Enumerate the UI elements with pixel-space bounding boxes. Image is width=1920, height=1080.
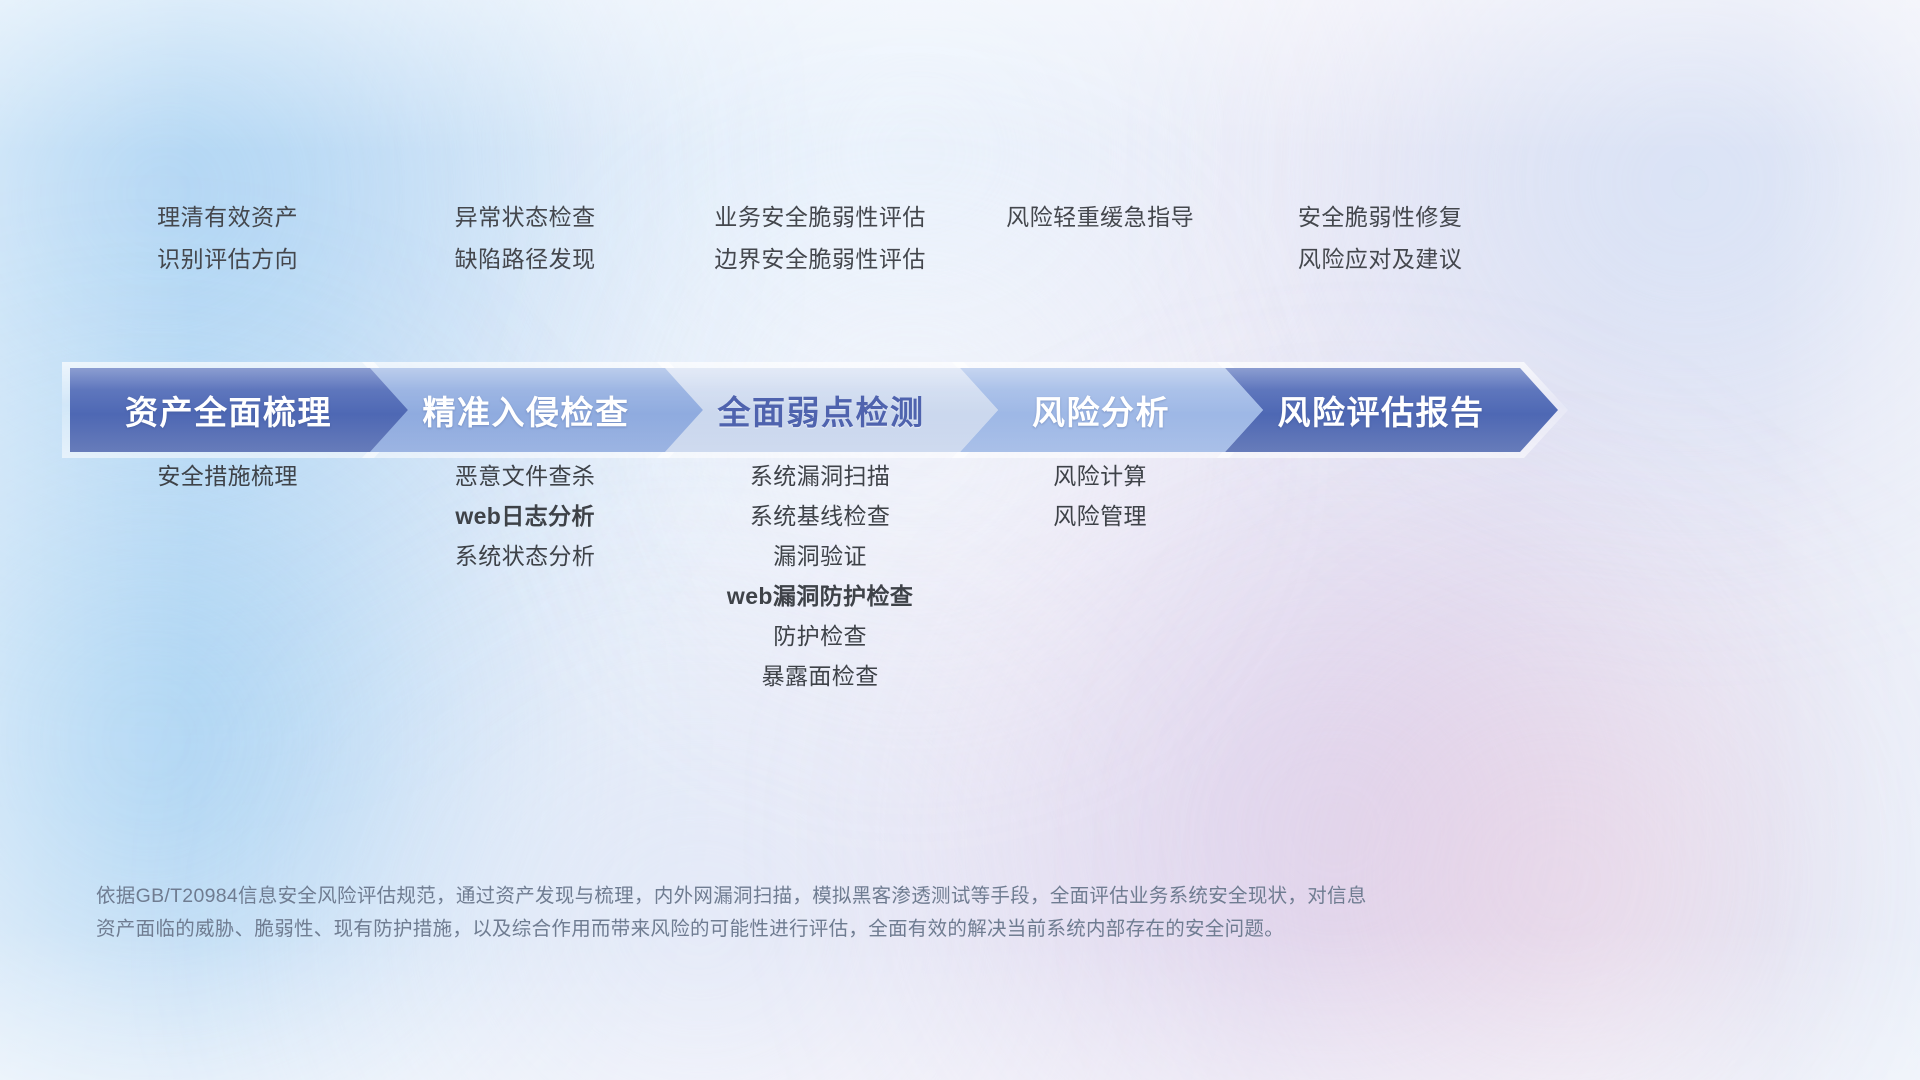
footer-line-1: 依据GB/T20984信息安全风险评估规范，通过资产发现与梳理，内外网漏洞扫描，…: [96, 880, 1626, 913]
footer-line-2: 资产面临的威胁、脆弱性、现有防护措施，以及综合作用而带来风险的可能性进行评估，全…: [96, 913, 1626, 946]
chevron-label-assessment-report: 风险评估报告: [1278, 386, 1485, 434]
stage-bottom-item: 漏洞验证: [610, 536, 1030, 576]
chevron-label-weakness-detection: 全面弱点检测: [718, 386, 925, 434]
process-chevron-band: 资产全面梳理精准入侵检查全面弱点检测风险分析风险评估报告: [70, 368, 1520, 452]
stage-bottom-item: web漏洞防护检查: [610, 576, 1030, 616]
chevron-label-intrusion-check: 精准入侵检查: [423, 386, 630, 434]
stage-top-item: 边界安全脆弱性评估: [610, 238, 1030, 280]
stage-top-item: 风险应对及建议: [1170, 238, 1590, 280]
chevron-label-risk-analysis: 风险分析: [1032, 386, 1170, 434]
stage-top-item: 安全脆弱性修复: [1170, 196, 1590, 238]
footer-description: 依据GB/T20984信息安全风险评估规范，通过资产发现与梳理，内外网漏洞扫描，…: [96, 880, 1626, 946]
stage-bottom-item: 暴露面检查: [610, 656, 1030, 696]
chevron-assessment-report[interactable]: 风险评估报告: [1225, 368, 1558, 452]
chevron-asset-inventory[interactable]: 资产全面梳理: [70, 368, 408, 452]
stage-bottom-item: 风险计算: [890, 456, 1310, 496]
stage-bottom-item: 防护检查: [610, 616, 1030, 656]
stage-top-list-assessment-report: 安全脆弱性修复风险应对及建议: [1170, 196, 1590, 280]
chevron-risk-analysis[interactable]: 风险分析: [960, 368, 1263, 452]
chevron-intrusion-check[interactable]: 精准入侵检查: [370, 368, 703, 452]
chevron-label-asset-inventory: 资产全面梳理: [125, 386, 332, 434]
process-diagram: 理清有效资产识别评估方向 异常状态检查缺陷路径发现 业务安全脆弱性评估边界安全脆…: [0, 0, 1920, 1080]
chevron-weakness-detection[interactable]: 全面弱点检测: [665, 368, 998, 452]
stage-bottom-item: 风险管理: [890, 496, 1310, 536]
